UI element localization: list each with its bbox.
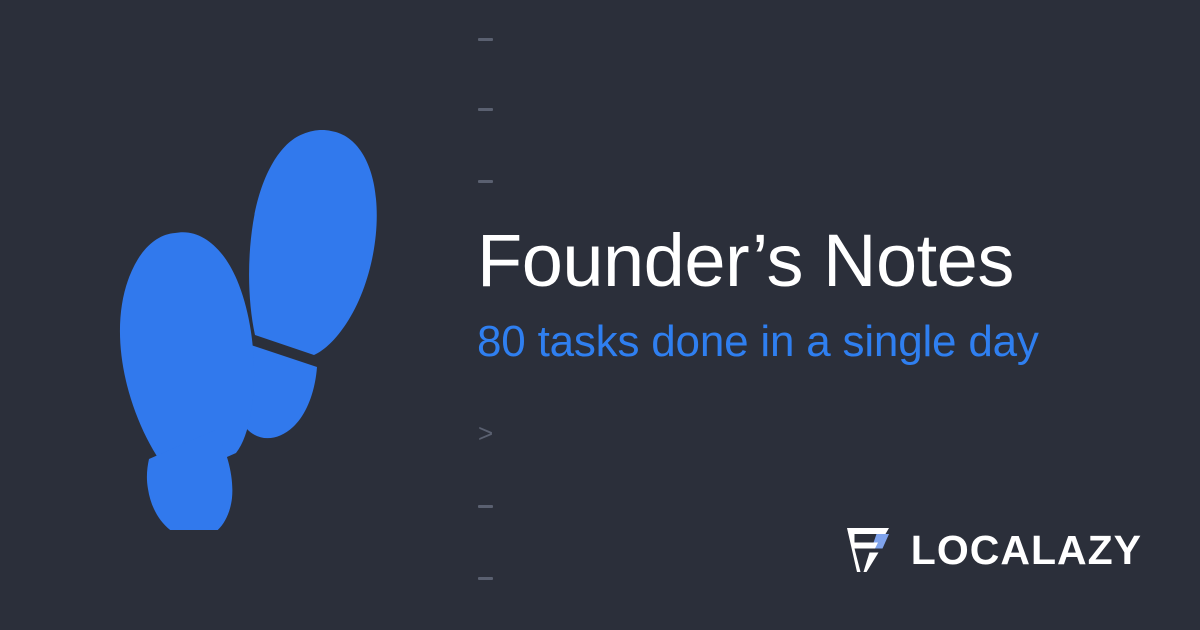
footprint-left [120,232,254,530]
rail-dash-icon [478,505,493,508]
page-subtitle: 80 tasks done in a single day [477,298,1137,364]
localazy-logo-mark [845,525,893,575]
og-card: > Founder’s Notes 80 tasks done in a sin… [0,0,1200,630]
rail-dash-icon [478,108,493,111]
brand-wordmark: LOCALAZY [911,530,1142,571]
footprints-illustration [60,120,410,530]
headline-block: Founder’s Notes 80 tasks done in a singl… [477,224,1137,364]
brand-lockup: LOCALAZY [845,525,1142,575]
rail-dash-icon [478,577,493,580]
rail-dash-icon [478,38,493,41]
footprint-right [235,130,377,438]
chevron-right-icon: > [478,420,493,446]
page-title: Founder’s Notes [477,224,1137,298]
rail-dash-icon [478,180,493,183]
